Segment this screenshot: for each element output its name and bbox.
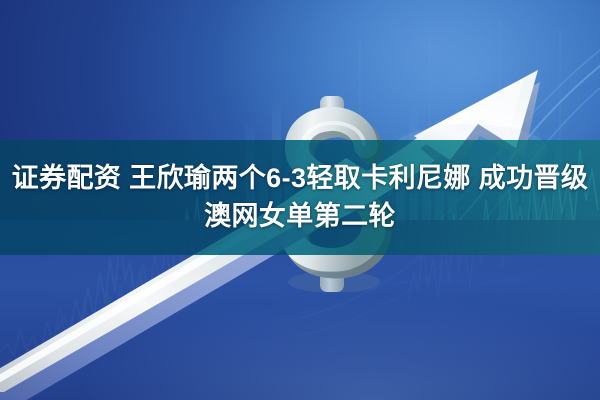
headline-text: 证券配资 王欣瑜两个6-3轻取卡利尼娜 成功晋级 澳网女单第二轮 xyxy=(0,140,600,255)
headline-line-1: 证券配资 王欣瑜两个6-3轻取卡利尼娜 成功晋级 xyxy=(12,161,589,197)
headline-line-2: 澳网女单第二轮 xyxy=(204,199,396,235)
news-banner: 证券配资 王欣瑜两个6-3轻取卡利尼娜 成功晋级 澳网女单第二轮 xyxy=(0,0,600,400)
